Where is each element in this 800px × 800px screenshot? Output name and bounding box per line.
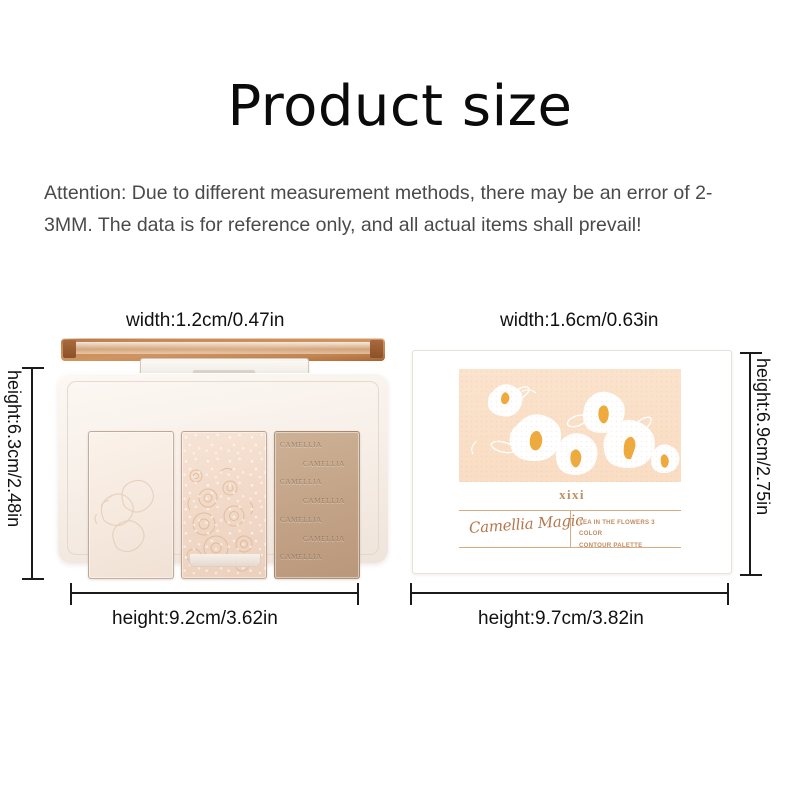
camellia-emboss-row: CAMELLIA <box>280 479 359 486</box>
camellia-emboss-row: CAMELLIA <box>303 536 359 543</box>
box-art-panel <box>459 369 681 482</box>
lid-tab-left <box>63 340 76 358</box>
description-line-2: CONTOUR PALETTE <box>579 540 679 551</box>
pan-1-flower-emboss-icon <box>89 432 173 578</box>
camellia-emboss-row: CAMELLIA <box>303 461 359 468</box>
palette-pan-1 <box>88 431 174 579</box>
camellia-emboss-row: CAMELLIA <box>280 517 359 524</box>
page-title: Product size <box>0 78 800 137</box>
lid-glass-strip <box>69 342 377 354</box>
left-height-bracket <box>31 369 33 578</box>
palette-body: CAMELLIACAMELLIACAMELLIACAMELLIACAMELLIA… <box>58 373 388 563</box>
left-bottom-bracket <box>72 592 357 594</box>
lid-tab-right <box>370 340 383 358</box>
right-width-label: width:1.6cm/0.63in <box>500 310 658 332</box>
open-palette-product: CAMELLIACAMELLIACAMELLIACAMELLIACAMELLIA… <box>58 338 388 578</box>
closed-box-product: xixi Camellia Magic TEA IN THE FLOWERS 3… <box>412 350 732 574</box>
camellia-emboss-row: CAMELLIA <box>303 498 359 505</box>
script-signature: Camellia Magic <box>468 512 565 537</box>
camellia-emboss-row: CAMELLIA <box>280 442 359 449</box>
left-width-label: width:1.2cm/0.47in <box>126 310 284 332</box>
right-height-label: height:6.9cm/2.75in <box>752 358 773 515</box>
attention-note: Attention: Due to different measurement … <box>44 178 760 241</box>
right-height-bracket <box>749 354 751 574</box>
description-line-1: TEA IN THE FLOWERS 3 COLOR <box>579 517 679 540</box>
left-height-label: height:6.3cm/2.48in <box>3 370 24 527</box>
brand-mark: xixi <box>413 487 731 503</box>
left-bottom-label: height:9.2cm/3.62in <box>112 608 278 630</box>
camellia-emboss-text: CAMELLIACAMELLIACAMELLIACAMELLIACAMELLIA… <box>275 432 359 578</box>
camellia-flower-illustration-icon <box>459 369 681 482</box>
right-bottom-bracket <box>412 592 727 594</box>
right-bottom-label: height:9.7cm/3.82in <box>478 608 644 630</box>
palette-pan-3: CAMELLIACAMELLIACAMELLIACAMELLIACAMELLIA… <box>274 431 360 579</box>
product-description: TEA IN THE FLOWERS 3 COLOR CONTOUR PALET… <box>579 517 679 551</box>
palette-thumb-tab <box>189 554 261 567</box>
camellia-emboss-row: CAMELLIA <box>280 554 359 561</box>
